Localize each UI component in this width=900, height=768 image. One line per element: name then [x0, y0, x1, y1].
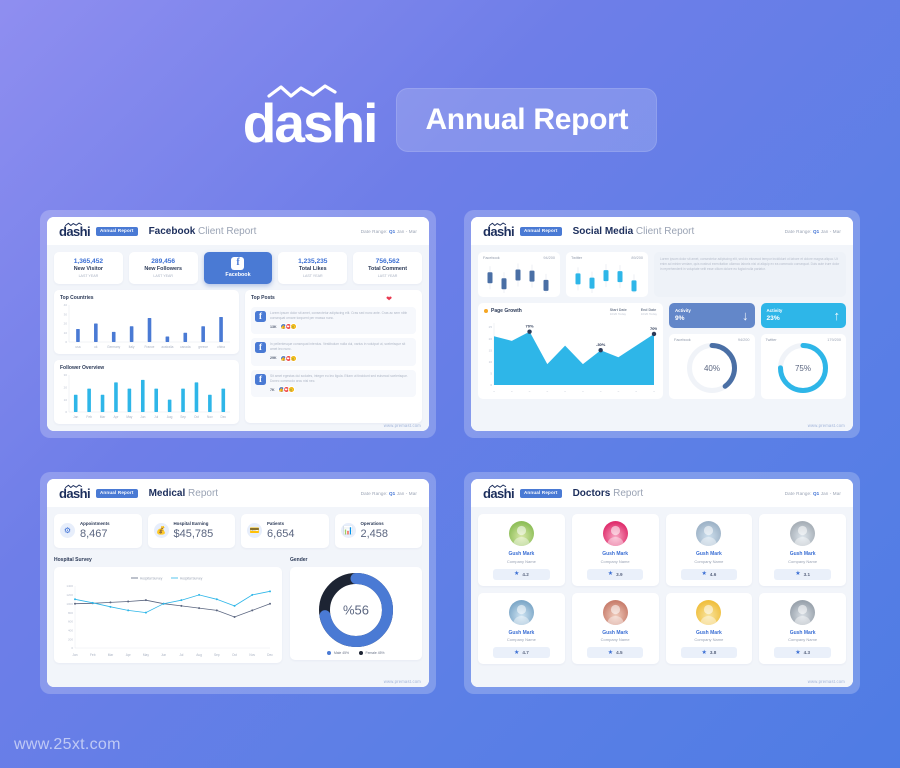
stat-value: 2,458 [361, 528, 389, 541]
svg-text:Apr: Apr [113, 415, 119, 419]
svg-text:Feb: Feb [90, 653, 96, 657]
rating-value: 3.9 [616, 572, 622, 577]
facebook-icon: f [231, 257, 244, 270]
stat-card[interactable]: 756,562 Total Comment LAST YEAR [353, 252, 422, 284]
chart-title: Top Countries [60, 295, 233, 301]
chart-title: Follower Overview [60, 365, 233, 371]
card-header: dashi Annual Report Social Media Client … [471, 217, 853, 245]
facebook-donut-chart: 40% [686, 342, 738, 394]
doctor-card[interactable]: Gush MarkCompany Name★3.9 [572, 514, 659, 586]
svg-text:china: china [217, 345, 225, 349]
avatar [696, 521, 721, 546]
svg-text:40: 40 [64, 303, 68, 307]
activity-card-down[interactable]: Activity 9% ↓ [669, 303, 755, 328]
legend-dot [327, 651, 331, 655]
svg-text:~: ~ [653, 390, 655, 394]
chart-title: Page Growth [484, 308, 522, 314]
facebook-icon: f [255, 311, 266, 322]
stat-sub: LAST YEAR [56, 274, 121, 279]
legend-item: Male 45% [327, 651, 349, 655]
avatar [790, 521, 815, 546]
date-range: Date Range: Q1 Jan - Mar [785, 229, 841, 234]
svg-text:Mar: Mar [108, 653, 114, 657]
stat-card[interactable]: 1,235,235 Total Likes LAST YEAR [278, 252, 347, 284]
svg-text:Sep: Sep [214, 653, 220, 657]
doctor-name: Gush Mark [482, 630, 561, 638]
post-item[interactable]: f Sit amet egestas dui sodales, integer … [251, 370, 416, 398]
top-countries-chart: 010203040usaukGermanyItalyFranceaustrali… [60, 303, 233, 349]
rating-badge[interactable]: ★4.3 [774, 647, 831, 658]
svg-text:Jan: Jan [73, 415, 78, 419]
svg-text:75%: 75% [795, 364, 811, 373]
svg-text:Italy: Italy [129, 345, 135, 349]
doctor-card[interactable]: Gush MarkCompany Name★4.5 [572, 593, 659, 665]
stat-label: New Followers [131, 266, 196, 274]
doctor-card[interactable]: Gush MarkCompany Name★4.6 [666, 514, 753, 586]
annual-report-badge: Annual Report [520, 489, 562, 499]
svg-text:canada: canada [180, 345, 191, 349]
post-count: 7K [270, 388, 275, 392]
avatar [790, 600, 815, 625]
gender-legend: Male 45% Female 45% [327, 651, 384, 655]
mini-value: 94/200 [543, 256, 555, 260]
card-title: Facebook Client Report [149, 226, 257, 237]
dashi-logo-small: dashi [59, 225, 90, 238]
stat-patients[interactable]: 💳 Patients 6,654 [241, 514, 329, 548]
top-countries-panel: Top Countries 010203040usaukGermanyItaly… [54, 290, 239, 354]
rating-badge[interactable]: ★4.6 [681, 569, 738, 580]
dashi-logo: dashi [243, 90, 377, 151]
doctor-company: Company Name [482, 559, 561, 565]
chart-icon: 📊 [341, 523, 356, 538]
star-icon: ★ [795, 650, 800, 656]
stat-sub: LAST YEAR [355, 274, 420, 279]
stat-card[interactable]: 289,456 New Followers LAST YEAR [129, 252, 198, 284]
stat-sub: LAST YEAR [131, 274, 196, 279]
annual-report-badge: Annual Report [96, 489, 138, 499]
activity-card-up[interactable]: Activity 23% ↑ [761, 303, 847, 328]
reaction-icons: 👍 ❤ 😲 [278, 386, 295, 393]
stat-value: $45,785 [174, 528, 214, 541]
top-posts-panel: Top Posts ❤ f Lorem ipsum dolor sit amet… [245, 290, 422, 423]
heart-icon: ❤ [386, 295, 392, 303]
legend-item: Female 45% [359, 651, 385, 655]
rating-value: 4.7 [522, 650, 528, 655]
rating-badge[interactable]: ★3.8 [681, 647, 738, 658]
svg-text:France: France [145, 345, 155, 349]
post-text: In pellentesque consequat interdus. Vest… [270, 342, 412, 352]
follower-overview-panel: Follower Overview 0102030JanFebMarAprMay… [54, 360, 239, 424]
doctor-company: Company Name [576, 559, 655, 565]
svg-text:10: 10 [64, 331, 68, 335]
avatar [509, 521, 534, 546]
svg-text:May: May [126, 415, 132, 419]
stat-label: Total Likes [280, 266, 345, 274]
description-text: Lorem ipsum dolor sit amet, consectetur … [654, 252, 846, 297]
card-header: dashi Annual Report Medical Report Date … [47, 479, 429, 507]
medical-report-card[interactable]: dashi Annual Report Medical Report Date … [40, 472, 436, 694]
rating-value: 3.8 [710, 650, 716, 655]
stat-label: Operations [361, 521, 389, 528]
svg-text:0: 0 [65, 410, 67, 414]
star-icon: ★ [608, 650, 613, 656]
svg-text:200: 200 [68, 637, 73, 641]
svg-text:20: 20 [489, 337, 493, 341]
wow-icon: 😲 [288, 386, 295, 393]
doctor-name: Gush Mark [670, 551, 749, 559]
svg-text:Oct: Oct [194, 415, 199, 419]
stat-operations[interactable]: 📊 Operations 2,458 [335, 514, 423, 548]
legend-dot [359, 651, 363, 655]
gear-icon: ⚙ [60, 523, 75, 538]
svg-text:400: 400 [68, 628, 73, 632]
stat-label: Appointments [80, 521, 110, 528]
date-range: Date Range: Q1 Jan - Mar [361, 229, 417, 234]
doctor-company: Company Name [763, 637, 842, 643]
footer-watermark: www.premast.com [384, 423, 421, 428]
stat-hospital-earning[interactable]: 💰 Hospital Earning $45,785 [148, 514, 236, 548]
annual-report-badge: Annual Report [396, 88, 657, 152]
twitter-mini-chart-panel: Twitter 89/200 [566, 252, 648, 297]
star-icon: ★ [701, 650, 706, 656]
rating-value: 4.5 [616, 650, 622, 655]
svg-text:uk: uk [94, 345, 98, 349]
svg-text:20: 20 [64, 322, 68, 326]
arrow-down-icon: ↓ [742, 309, 749, 322]
doctor-name: Gush Mark [763, 551, 842, 559]
social-media-report-card[interactable]: dashi Annual Report Social Media Client … [464, 210, 860, 438]
doctors-report-card[interactable]: dashi Annual Report Doctors Report Date … [464, 472, 860, 694]
svg-text:~: ~ [600, 390, 602, 394]
svg-text:Jun: Jun [161, 653, 166, 657]
mini-title: Twitter [571, 256, 582, 260]
post-text: Lorem ipsum dolor sit amet, consectetur … [270, 311, 412, 321]
svg-text:Aug: Aug [196, 653, 202, 657]
post-item[interactable]: f Lorem ipsum dolor sit amet, consectetu… [251, 307, 416, 335]
stat-value: 756,562 [355, 258, 420, 266]
svg-text:10: 10 [489, 360, 493, 364]
svg-text:Apr: Apr [126, 653, 132, 657]
rating-badge[interactable]: ★4.7 [493, 647, 550, 658]
squiggle-icon [489, 484, 506, 489]
activity-label: Activity [675, 308, 691, 315]
svg-text:70%: 70% [650, 326, 657, 331]
svg-text:Hospital Survey: Hospital Survey [140, 576, 163, 580]
svg-text:1400: 1400 [66, 584, 73, 588]
svg-text:70%: 70% [526, 324, 534, 329]
svg-text:15: 15 [489, 348, 493, 352]
rating-badge[interactable]: ★4.5 [587, 647, 644, 658]
page-watermark: www.25xt.com [14, 736, 121, 754]
card-header: dashi Annual Report Facebook Client Repo… [47, 217, 429, 245]
arrow-up-icon: ↑ [834, 309, 841, 322]
activity-value: 23% [767, 315, 783, 323]
hospital-survey-section: Hospital Survey 020040060080010001200140… [54, 557, 282, 663]
doctor-card[interactable]: Gush MarkCompany Name★4.3 [759, 593, 846, 665]
card-title: Social Media Client Report [573, 226, 695, 237]
date-range: Date Range: Q1 Jan - Mar [361, 491, 417, 496]
follower-overview-chart: 0102030JanFebMarAprMayJunJulAugSepOctNov… [60, 373, 233, 419]
rating-badge[interactable]: ★3.1 [774, 569, 831, 580]
dashi-logo-small: dashi [483, 225, 514, 238]
rating-value: 3.1 [804, 572, 810, 577]
doctor-name: Gush Mark [763, 630, 842, 638]
stats-row: 1,365,452 New Visitor LAST YEAR 289,456 … [54, 252, 422, 284]
svg-text:Jan: Jan [72, 653, 77, 657]
svg-text:0: 0 [71, 646, 73, 650]
svg-text:0: 0 [65, 340, 67, 344]
svg-text:600: 600 [68, 619, 73, 623]
stat-value: 8,467 [80, 528, 110, 541]
card-header: dashi Annual Report Doctors Report Date … [471, 479, 853, 507]
svg-text:greece: greece [198, 345, 208, 349]
svg-text:30: 30 [64, 373, 68, 377]
footer-watermark: www.premast.com [384, 679, 421, 684]
page-growth-chart: 051015202570%-30%70%~~~~~~~~~~ [484, 316, 657, 394]
stat-label: Patients [267, 521, 295, 528]
stat-value: 289,456 [131, 258, 196, 266]
doctor-name: Gush Mark [576, 551, 655, 559]
avatar [509, 600, 534, 625]
svg-text:~: ~ [618, 390, 620, 394]
svg-text:Jun: Jun [140, 415, 145, 419]
avatar [696, 600, 721, 625]
annual-report-badge: Annual Report [96, 227, 138, 237]
svg-text:~: ~ [529, 390, 531, 394]
hospital-survey-chart: 0200400600800100012001400Hospital Survey… [59, 572, 275, 658]
star-icon: ★ [514, 571, 519, 577]
wow-icon: 😲 [290, 355, 297, 362]
gender-section: Gender %56 Male 45% Female 45% [290, 557, 422, 663]
doctor-company: Company Name [576, 637, 655, 643]
money-icon: 💰 [154, 523, 169, 538]
facebook-mini-chart [483, 260, 553, 293]
svg-text:1200: 1200 [66, 593, 73, 597]
section-title: Gender [290, 557, 422, 563]
svg-text:~: ~ [493, 390, 495, 394]
star-icon: ★ [608, 571, 613, 577]
rating-badge[interactable]: ★3.9 [587, 569, 644, 580]
page-title: dashi Annual Report [0, 88, 900, 152]
date-range: Date Range: Q1 Jan - Mar [785, 491, 841, 496]
svg-text:Nov: Nov [249, 653, 255, 657]
reaction-icons: 👍 ❤ 😲 [280, 323, 297, 330]
doctor-company: Company Name [670, 559, 749, 565]
post-count: 29K [270, 356, 277, 360]
facebook-mini-chart-panel: Facebook 94/200 [478, 252, 560, 297]
stat-label: Total Comment [355, 266, 420, 274]
footer-watermark: www.premast.com [808, 679, 845, 684]
start-date: Start Date 10/20 Today [610, 308, 627, 316]
reaction-icons: 👍 ❤ 😲 [280, 355, 297, 362]
svg-text:Germany: Germany [107, 345, 121, 349]
facebook-report-card[interactable]: dashi Annual Report Facebook Client Repo… [40, 210, 436, 438]
stat-appointments[interactable]: ⚙ Appointments 8,467 [54, 514, 142, 548]
svg-text:~: ~ [582, 390, 584, 394]
doctor-card[interactable]: Gush MarkCompany Name★3.8 [666, 593, 753, 665]
star-icon: ★ [701, 571, 706, 577]
doctor-card[interactable]: Gush MarkCompany Name★3.1 [759, 514, 846, 586]
stat-value: 1,235,235 [280, 258, 345, 266]
facebook-toggle-button[interactable]: f Facebook [204, 252, 273, 284]
card-title: Medical Report [149, 488, 218, 499]
doctor-company: Company Name [763, 559, 842, 565]
stat-value: 1,365,452 [56, 258, 121, 266]
dashi-wordmark: dashi [243, 92, 377, 154]
rating-value: 4.2 [522, 572, 528, 577]
section-title: Hospital Survey [54, 557, 282, 563]
svg-text:20: 20 [64, 385, 68, 389]
doctor-card[interactable]: Gush MarkCompany Name★4.7 [478, 593, 565, 665]
doctor-name: Gush Mark [576, 630, 655, 638]
svg-text:0: 0 [490, 383, 492, 387]
svg-text:Jul: Jul [154, 415, 158, 419]
stat-card[interactable]: 1,365,452 New Visitor LAST YEAR [54, 252, 123, 284]
stat-label: Facebook [225, 272, 250, 280]
post-item[interactable]: f In pellentesque consequat interdus. Ve… [251, 338, 416, 366]
svg-text:May: May [143, 653, 149, 657]
svg-text:~: ~ [635, 390, 637, 394]
footer-watermark: www.premast.com [808, 423, 845, 428]
twitter-donut-chart: 75% [777, 342, 829, 394]
facebook-icon: f [255, 374, 266, 385]
avatar [603, 600, 628, 625]
rating-value: 4.3 [804, 650, 810, 655]
gender-donut-chart: %56 [318, 572, 394, 648]
page-growth-panel: Page Growth Start Date 10/20 Today End D… [478, 303, 663, 399]
svg-text:Mar: Mar [100, 415, 106, 419]
stat-label: New Visitor [56, 266, 121, 274]
doctors-grid: Gush MarkCompany Name★4.2Gush MarkCompan… [478, 514, 846, 664]
svg-text:usa: usa [75, 345, 80, 349]
panel-title: Top Posts [251, 295, 275, 301]
facebook-donut-panel: Facebook 94/200 40% [669, 334, 755, 399]
doctor-company: Company Name [670, 637, 749, 643]
svg-text:40%: 40% [704, 364, 720, 373]
svg-text:Feb: Feb [86, 415, 92, 419]
rating-badge[interactable]: ★4.2 [493, 569, 550, 580]
activity-label: Activity [767, 308, 783, 315]
end-date: End Date 10/20 Today [641, 308, 657, 316]
svg-text:Oct: Oct [232, 653, 237, 657]
medical-stats-row: ⚙ Appointments 8,467 💰 Hospital Earning … [54, 514, 422, 548]
svg-text:Hospital Survey: Hospital Survey [180, 576, 203, 580]
stat-sub: LAST YEAR [280, 274, 345, 279]
mini-value: 89/200 [631, 256, 643, 260]
svg-text:Jul: Jul [179, 653, 183, 657]
squiggle-icon [65, 484, 82, 489]
star-icon: ★ [795, 571, 800, 577]
svg-text:-30%: -30% [596, 342, 606, 347]
stat-label: Hospital Earning [174, 521, 214, 528]
svg-text:25: 25 [489, 325, 493, 329]
stat-value: 6,654 [267, 528, 295, 541]
svg-text:800: 800 [68, 611, 73, 615]
svg-text:Aug: Aug [167, 415, 173, 419]
svg-text:Nov: Nov [207, 415, 213, 419]
squiggle-icon [489, 222, 506, 227]
post-count: 13K [270, 325, 277, 329]
doctor-company: Company Name [482, 637, 561, 643]
rating-value: 4.6 [710, 572, 716, 577]
card-icon: 💳 [247, 523, 262, 538]
svg-text:10: 10 [64, 398, 68, 402]
post-text: Sit amet egestas dui sodales, integer eu… [270, 374, 412, 384]
svg-text:~: ~ [546, 390, 548, 394]
svg-text:~: ~ [564, 390, 566, 394]
bullet-icon [484, 309, 488, 313]
mini-title: Facebook [483, 256, 500, 260]
doctor-name: Gush Mark [670, 630, 749, 638]
svg-text:~: ~ [511, 390, 513, 394]
avatar [603, 521, 628, 546]
squiggle-icon [65, 222, 82, 227]
twitter-donut-panel: Twitter 179/200 75% [761, 334, 847, 399]
doctor-name: Gush Mark [482, 551, 561, 559]
svg-text:Sep: Sep [180, 415, 186, 419]
svg-text:Dec: Dec [267, 653, 273, 657]
svg-text:Dec: Dec [220, 415, 226, 419]
squiggle-icon [267, 84, 337, 100]
doctor-card[interactable]: Gush MarkCompany Name★4.2 [478, 514, 565, 586]
activity-value: 9% [675, 315, 691, 323]
dashi-logo-small: dashi [483, 487, 514, 500]
facebook-icon: f [255, 342, 266, 353]
svg-text:1000: 1000 [66, 602, 73, 606]
svg-text:%56: %56 [343, 602, 369, 617]
svg-text:australia: australia [161, 345, 173, 349]
twitter-mini-chart [571, 260, 641, 293]
svg-text:5: 5 [490, 372, 492, 376]
dashi-logo-small: dashi [59, 487, 90, 500]
card-title: Doctors Report [573, 488, 644, 499]
annual-report-badge: Annual Report [520, 227, 562, 237]
wow-icon: 😲 [290, 323, 297, 330]
svg-text:30: 30 [64, 312, 68, 316]
star-icon: ★ [514, 650, 519, 656]
